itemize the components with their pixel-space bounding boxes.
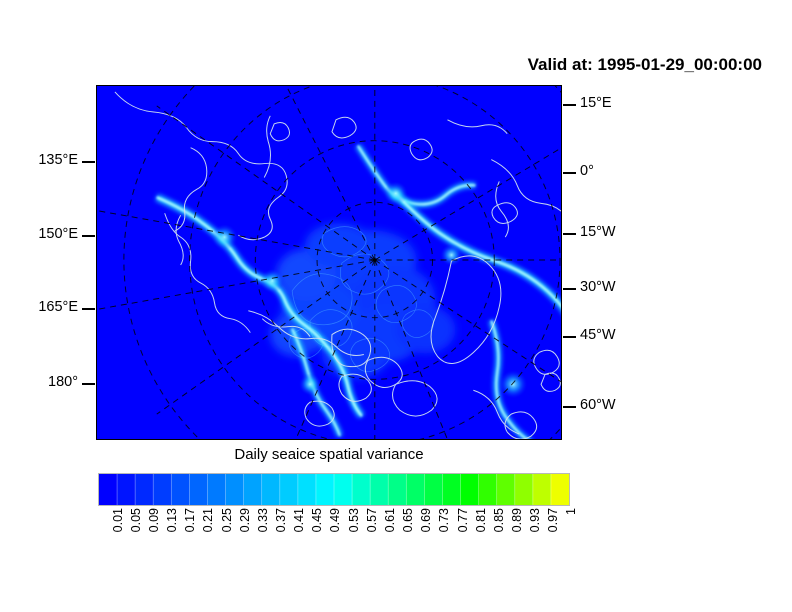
left-axis-label: 180° <box>48 375 78 390</box>
colorbar-band-separator <box>243 474 244 505</box>
left-axis-label: 165°E <box>38 300 78 315</box>
colorbar-band-separator <box>189 474 190 505</box>
colorbar-tick-label: 0.81 <box>475 508 488 532</box>
colorbar-band <box>442 474 460 505</box>
colorbar-band <box>388 474 406 505</box>
left-axis-tick <box>82 308 95 310</box>
right-axis-label: 15°W <box>580 225 616 240</box>
colorbar-band <box>298 474 316 505</box>
colorbar-band-separator <box>316 474 317 505</box>
colorbar-band-separator <box>117 474 118 505</box>
colorbar-band-separator <box>279 474 280 505</box>
right-axis-tick <box>563 288 576 290</box>
right-axis-label: 0° <box>580 164 594 179</box>
colorbar-band-separator <box>334 474 335 505</box>
north-pole-marker <box>373 258 377 262</box>
colorbar-band-separator <box>207 474 208 505</box>
colorbar-gradient <box>98 473 570 506</box>
right-axis-tick <box>563 406 576 408</box>
left-axis-tick <box>82 161 95 163</box>
colorbar-tick-label: 0.61 <box>384 508 397 532</box>
colorbar-band <box>117 474 135 505</box>
colorbar-band-separator <box>533 474 534 505</box>
right-axis-tick <box>563 172 576 174</box>
colorbar-tick-label: 0.17 <box>184 508 197 532</box>
colorbar-bands <box>99 474 569 505</box>
colorbar-band <box>262 474 280 505</box>
colorbar-tick-label: 0.45 <box>311 508 324 532</box>
page-title: Valid at: 1995-01-29_00:00:00 <box>0 55 762 75</box>
colorbar-band-separator <box>496 474 497 505</box>
colorbar-band <box>99 474 117 505</box>
colorbar-band <box>334 474 352 505</box>
colorbar-band-separator <box>370 474 371 505</box>
colorbar-tick-label: 0.33 <box>257 508 270 532</box>
figure-canvas: Valid at: 1995-01-29_00:00:00 <box>0 0 792 612</box>
colorbar-band-separator <box>261 474 262 505</box>
colorbar-tick-label: 0.49 <box>329 508 342 532</box>
left-axis-label: 150°E <box>38 227 78 242</box>
right-axis-label: 60°W <box>580 398 616 413</box>
colorbar-band <box>226 474 244 505</box>
left-axis-label: 135°E <box>38 153 78 168</box>
map-plot-area[interactable] <box>96 85 562 440</box>
colorbar-band-separator <box>424 474 425 505</box>
colorbar-band <box>533 474 551 505</box>
colorbar-tick-label: 0.05 <box>130 508 143 532</box>
colorbar-band <box>370 474 388 505</box>
colorbar-band <box>515 474 533 505</box>
colorbar-band-separator <box>388 474 389 505</box>
colorbar-band-separator <box>478 474 479 505</box>
colorbar-band <box>424 474 442 505</box>
right-axis-tick <box>563 233 576 235</box>
left-axis-tick <box>82 235 95 237</box>
colorbar-tick-label: 0.53 <box>348 508 361 532</box>
polar-stereographic-map <box>97 86 561 439</box>
colorbar-band <box>189 474 207 505</box>
colorbar[interactable] <box>98 473 570 506</box>
colorbar-band-separator <box>514 474 515 505</box>
colorbar-tick-label: 0.21 <box>202 508 215 532</box>
colorbar-tick-label: 0.93 <box>529 508 542 532</box>
left-axis-tick <box>82 383 95 385</box>
colorbar-band-separator <box>153 474 154 505</box>
colorbar-band-separator <box>298 474 299 505</box>
colorbar-band-separator <box>171 474 172 505</box>
colorbar-band <box>207 474 225 505</box>
right-axis-tick <box>563 336 576 338</box>
colorbar-band <box>479 474 497 505</box>
colorbar-tick-label: 0.25 <box>221 508 234 532</box>
colorbar-band <box>280 474 298 505</box>
colorbar-tick-label: 0.29 <box>239 508 252 532</box>
colorbar-band <box>153 474 171 505</box>
colorbar-tick-label: 0.97 <box>547 508 560 532</box>
colorbar-band <box>497 474 515 505</box>
colorbar-band <box>406 474 424 505</box>
colorbar-tick-label: 1 <box>565 508 578 515</box>
colorbar-band-separator <box>406 474 407 505</box>
colorbar-band <box>135 474 153 505</box>
colorbar-tick-label: 0.65 <box>402 508 415 532</box>
colorbar-band <box>352 474 370 505</box>
colorbar-tick-label: 0.09 <box>148 508 161 532</box>
colorbar-band-separator <box>352 474 353 505</box>
right-axis-tick <box>563 104 576 106</box>
right-axis-label: 45°W <box>580 328 616 343</box>
colorbar-tick-label: 0.73 <box>438 508 451 532</box>
colorbar-tick-label: 0.41 <box>293 508 306 532</box>
colorbar-band-separator <box>442 474 443 505</box>
colorbar-tick-labels: 0.010.050.090.130.170.210.250.290.330.37… <box>98 508 570 578</box>
colorbar-tick-label: 0.89 <box>511 508 524 532</box>
right-axis-label: 30°W <box>580 280 616 295</box>
colorbar-band <box>171 474 189 505</box>
colorbar-band-separator <box>225 474 226 505</box>
colorbar-band <box>551 474 569 505</box>
colorbar-tick-label: 0.37 <box>275 508 288 532</box>
right-axis-label: 15°E <box>580 96 612 111</box>
colorbar-band-separator <box>460 474 461 505</box>
colorbar-band-separator <box>551 474 552 505</box>
colorbar-tick-label: 0.57 <box>366 508 379 532</box>
colorbar-band-separator <box>135 474 136 505</box>
colorbar-tick-label: 0.69 <box>420 508 433 532</box>
colorbar-tick-label: 0.13 <box>166 508 179 532</box>
colorbar-tick-label: 0.85 <box>493 508 506 532</box>
colorbar-caption: Daily seaice spatial variance <box>96 446 562 463</box>
colorbar-band <box>244 474 262 505</box>
colorbar-band <box>316 474 334 505</box>
colorbar-tick-label: 0.77 <box>457 508 470 532</box>
colorbar-band <box>461 474 479 505</box>
colorbar-tick-label: 0.01 <box>112 508 125 532</box>
